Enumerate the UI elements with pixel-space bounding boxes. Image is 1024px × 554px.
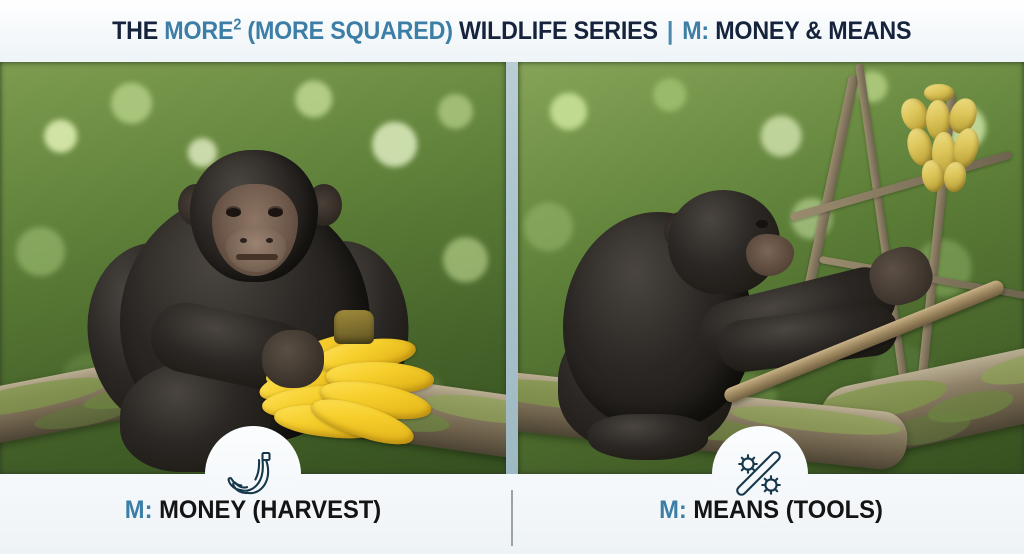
caption-money: M: MONEY (HARVEST) xyxy=(13,496,494,525)
caption-prefix: M: xyxy=(125,496,153,524)
gears-and-tool-icon xyxy=(733,449,787,499)
photo-stage xyxy=(0,62,1024,474)
title-money-and-means: MONEY & MEANS xyxy=(709,17,911,45)
title-separator: | xyxy=(664,17,676,45)
title-m-prefix: M: xyxy=(676,17,709,45)
title-the: THE xyxy=(112,17,164,45)
title-wildlife-series: WILDLIFE SERIES xyxy=(453,17,664,45)
caption-means: M: MEANS (TOOLS) xyxy=(531,496,1012,525)
panel-divider xyxy=(506,62,518,474)
chimpanzee-hand xyxy=(262,330,324,388)
chimpanzee-eye xyxy=(268,208,283,217)
caption-label: MONEY (HARVEST) xyxy=(152,496,381,524)
caption-band: M: MONEY (HARVEST) M: MEANS (TOOLS) enga… xyxy=(0,474,1024,554)
caption-prefix: M: xyxy=(659,496,687,524)
poster-root: THE MORE2 (MORE SQUARED) WILDLIFE SERIES… xyxy=(0,0,1024,554)
banana-stem xyxy=(334,310,374,344)
banana-bunch-icon xyxy=(226,449,280,499)
title-more: MORE xyxy=(165,17,234,45)
photo-panel-money xyxy=(0,62,506,474)
title-more-squared: (MORE SQUARED) xyxy=(241,17,453,45)
caption-divider xyxy=(511,490,513,546)
chimpanzee-eye xyxy=(226,208,241,217)
page-title: THE MORE2 (MORE SQUARED) WILDLIFE SERIES… xyxy=(112,17,911,46)
chimpanzee-foot xyxy=(588,414,708,460)
banana-bunch-hanging xyxy=(894,84,998,194)
chimpanzee-nostril xyxy=(240,238,247,243)
header-bar: THE MORE2 (MORE SQUARED) WILDLIFE SERIES… xyxy=(0,0,1024,62)
caption-label: MEANS (TOOLS) xyxy=(687,496,883,524)
photo-panel-means xyxy=(518,62,1024,474)
chimpanzee-eye xyxy=(756,220,768,228)
chimpanzee-mouth xyxy=(236,254,278,260)
chimpanzee-nostril xyxy=(266,238,273,243)
